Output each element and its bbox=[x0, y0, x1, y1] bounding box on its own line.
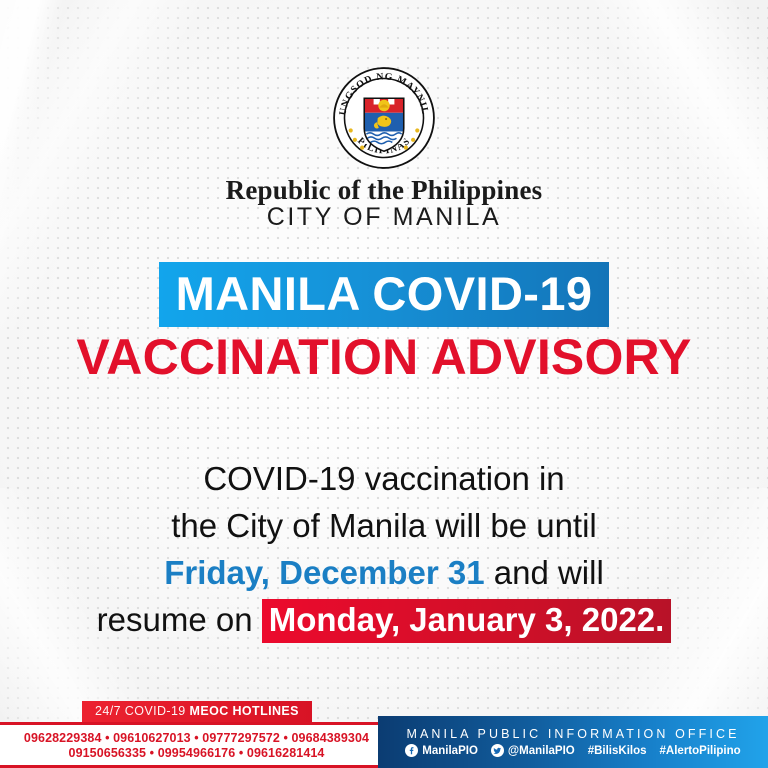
headline-line1: MANILA COVID-19 bbox=[159, 262, 610, 327]
headline-blue-row: MANILA COVID-19 bbox=[0, 262, 768, 327]
body-line-4-lead: resume on bbox=[97, 601, 262, 638]
resume-date-highlight: Monday, January 3, 2022. bbox=[262, 599, 672, 643]
pio-socials: ManilaPIO @ManilaPIO #BilisKilos #Alerto… bbox=[405, 744, 740, 757]
advisory-body: COVID-19 vaccination in the City of Mani… bbox=[0, 455, 768, 643]
body-line-3-tail: and will bbox=[485, 554, 604, 591]
hashtag-alerto-pilipino[interactable]: #AlertoPilipino bbox=[660, 745, 741, 757]
facebook-handle: ManilaPIO bbox=[422, 745, 478, 757]
footer: 24/7 COVID-19 MEOC HOTLINES 09628229384 … bbox=[0, 716, 768, 768]
headline-line2: VACCINATION ADVISORY bbox=[0, 330, 768, 384]
hotline-tab-light: 24/7 COVID-19 bbox=[95, 704, 190, 718]
facebook-icon bbox=[405, 744, 418, 757]
body-line-2: the City of Manila will be until bbox=[0, 502, 768, 549]
republic-line: Republic of the Philippines bbox=[0, 175, 768, 206]
body-line-4: resume on Monday, January 3, 2022. bbox=[0, 596, 768, 643]
end-date-highlight: Friday, December 31 bbox=[164, 554, 484, 591]
hotline-tab: 24/7 COVID-19 MEOC HOTLINES bbox=[82, 701, 312, 722]
facebook-link[interactable]: ManilaPIO bbox=[405, 744, 478, 757]
city-line: CITY OF MANILA bbox=[0, 203, 768, 232]
hotline-panel: 09628229384 • 09610627013 • 09777297572 … bbox=[0, 722, 396, 768]
hotline-row-2[interactable]: 09150656335 • 09954966176 • 09616281414 bbox=[69, 746, 325, 760]
seal-container: LUNGSOD NG MAYNILA PILIPINAS bbox=[0, 66, 768, 170]
pio-panel: MANILA PUBLIC INFORMATION OFFICE ManilaP… bbox=[378, 716, 768, 768]
hotline-tab-bold: MEOC HOTLINES bbox=[190, 704, 299, 718]
twitter-link[interactable]: @ManilaPIO bbox=[491, 744, 575, 757]
twitter-handle: @ManilaPIO bbox=[508, 745, 575, 757]
body-line-1: COVID-19 vaccination in bbox=[0, 455, 768, 502]
hashtag-bilis-kilos[interactable]: #BilisKilos bbox=[588, 745, 647, 757]
vaccination-advisory-poster: LUNGSOD NG MAYNILA PILIPINAS bbox=[0, 0, 768, 768]
manila-city-seal-icon: LUNGSOD NG MAYNILA PILIPINAS bbox=[332, 66, 436, 170]
body-line-3: Friday, December 31 and will bbox=[0, 549, 768, 596]
pio-office-title: MANILA PUBLIC INFORMATION OFFICE bbox=[406, 727, 739, 741]
twitter-icon bbox=[491, 744, 504, 757]
hotline-row-1[interactable]: 09628229384 • 09610627013 • 09777297572 … bbox=[24, 731, 369, 745]
